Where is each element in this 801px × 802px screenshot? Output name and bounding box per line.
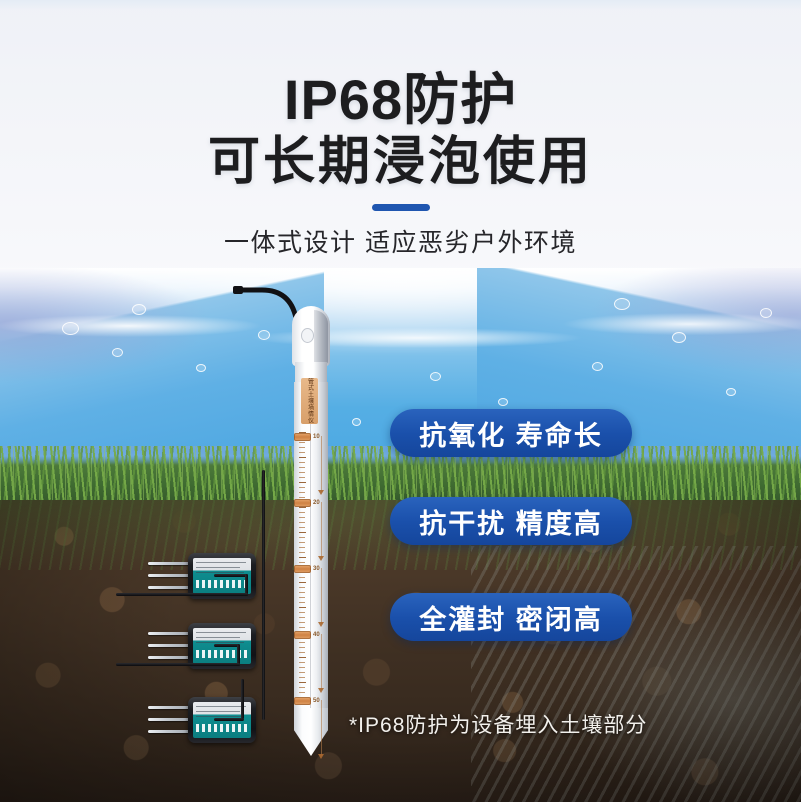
probe-tip [294,708,328,756]
feature-badge-2[interactable]: 抗干扰 精度高 [390,497,632,545]
probe-sensor-ring [294,631,311,639]
bubble-icon [614,298,630,310]
probe-arrow-icon [318,556,324,561]
bubble-icon [592,362,603,371]
soil-vignette [0,500,801,802]
grass-blades [0,446,801,508]
sensor-label-text [196,580,248,588]
probe-arrow-icon [318,490,324,495]
probe-indicator-icon [301,328,314,343]
footnote: *IP68防护为设备埋入土壤部分 [349,709,647,739]
probe-arrow-line [321,634,322,690]
probe-sensor-ring [294,499,311,507]
headline-primary: IP68防护 [0,70,801,129]
feature-badge-1-label: 抗氧化 寿命长 [419,414,603,453]
probe-arrow-icon [318,754,324,759]
sensor-label-text [196,724,248,732]
probe-arrow-line [321,568,322,624]
bubble-icon [498,398,508,406]
headline-subtitle: 一体式设计 适应恶劣户外环境 [0,223,801,259]
bubble-icon [352,418,361,426]
probe-arrow-column [316,436,325,704]
feature-badge-3-label: 全灌封 密闭高 [419,598,603,637]
soil-layer [0,500,801,802]
probe-arrow-line [321,436,322,492]
headline-secondary: 可长期浸泡使用 [0,135,801,190]
soil-sensor [148,623,256,669]
bubble-icon [62,322,79,335]
probe-sensor-ring [294,433,311,441]
probe-arrow-line [321,502,322,558]
soil-sensor [148,697,256,743]
bubble-icon [258,330,270,340]
feature-badge-2-label: 抗干扰 精度高 [419,502,603,541]
bubble-icon [672,332,686,343]
soil-sensor [148,553,256,599]
feature-badge-1[interactable]: 抗氧化 寿命长 [390,409,632,457]
bubble-icon [132,304,146,315]
sensor-label-text [196,650,248,658]
probe-arrow-icon [318,622,324,627]
tube-probe: 管式土壤墒情仪 1020304050 [290,306,332,756]
accent-divider [372,204,430,211]
sensor-lead [214,718,244,721]
bubble-icon [196,364,206,372]
probe-arrow-line [321,700,322,756]
sensor-lead-join [116,593,248,596]
bubble-icon [112,348,123,357]
sensor-trunk-cable [262,470,265,720]
probe-product-label: 管式土壤墒情仪 [301,378,318,424]
probe-sensor-ring [294,565,311,573]
probe-arrow-icon [318,688,324,693]
sensor-lead-vertical [241,679,244,719]
bubble-icon [726,388,736,396]
product-banner: IP68防护 可长期浸泡使用 一体式设计 适应恶劣户外环境 [0,0,801,802]
sensor-lead [214,574,248,577]
feature-badge-3[interactable]: 全灌封 密闭高 [390,593,632,641]
grass-layer [0,446,801,508]
headline-block: IP68防护 可长期浸泡使用 一体式设计 适应恶劣户外环境 [0,0,801,259]
bubble-icon [760,308,772,318]
sensor-lead-join [116,663,240,666]
bubble-icon [430,372,441,381]
probe-cap-shading [314,310,328,364]
probe-sensor-ring [294,697,311,705]
